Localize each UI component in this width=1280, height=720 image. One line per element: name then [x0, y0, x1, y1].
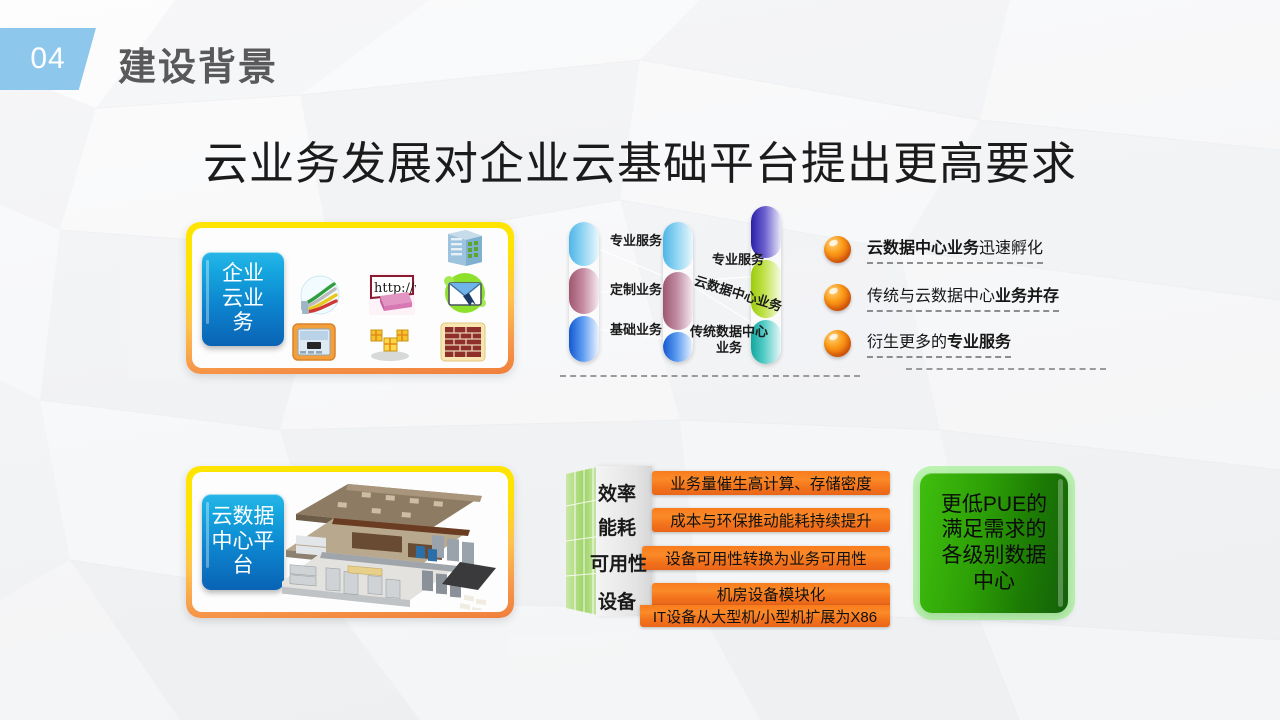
capsule-label-left-1: 定制业务: [601, 282, 671, 298]
orange-bar-2: 设备可用性转换为业务可用性: [642, 546, 890, 570]
bullet-text-1: 传统与云数据中心业务并存: [867, 282, 1059, 312]
capsule-label-right-0: 专业服务: [695, 252, 781, 268]
orange-bar-4: IT设备从大型机/小型机扩展为X86: [640, 605, 890, 627]
panel-enterprise-cloud-business: 企业 云业 务 http://w: [186, 222, 514, 374]
orange-bar-1: 成本与环保推动能耗持续提升: [652, 508, 890, 532]
page-title: 云业务发展对企业云基础平台提出更高要求: [0, 127, 1280, 192]
bullet-text-2: 衍生更多的专业服务: [867, 328, 1011, 358]
orange-bar-0: 业务量催生高计算、存储密度: [652, 471, 890, 495]
tablet-device-icon: [291, 322, 337, 362]
package-boxes-icon: [366, 324, 414, 362]
panel-cloud-datacenter-platform: 云数据 中心平 台: [186, 466, 514, 618]
capsule-1-seg-top: [569, 222, 599, 266]
key-label-0: 效率: [598, 479, 636, 506]
chip-label: 云数据 中心平 台: [212, 505, 275, 579]
capsule-label-left-2: 基础业务: [601, 322, 671, 338]
dashed-separator-left: [560, 375, 860, 377]
bullet-item-0: 云数据中心业务迅速孵化: [824, 234, 1043, 264]
svg-text:http://w: http://w: [374, 281, 416, 296]
capsule-1-seg-mid: [569, 268, 599, 314]
chip-cloud-datacenter-platform: 云数据 中心平 台: [202, 494, 284, 590]
key-label-1: 能耗: [598, 513, 636, 540]
bullet-dot-icon: [824, 330, 851, 357]
bullet-dot-icon: [824, 284, 851, 311]
key-label-2: 可用性: [590, 549, 647, 576]
datacenter-3d-cutaway: [282, 478, 502, 610]
key-label-3: 设备: [598, 587, 636, 614]
result-box-text: 更低PUE的 满足需求的 各级别数据 中心: [941, 492, 1047, 594]
server-rack-icon: [444, 228, 486, 268]
chromosome-diagram: 专业服务 定制业务 基础业务 专业服务 云数据中心业务 传统数据中心 业务: [555, 210, 825, 375]
bullet-text-0: 云数据中心业务迅速孵化: [867, 234, 1043, 264]
section-title: 建设背景: [118, 36, 278, 91]
slide-header: 04 建设背景: [0, 0, 1280, 112]
capsule-label-right-2: 传统数据中心 业务: [683, 324, 775, 357]
orange-bar-3: 机房设备模块化: [652, 583, 890, 605]
capsule-3-seg-top: [751, 206, 781, 258]
bullet-item-1: 传统与云数据中心业务并存: [824, 282, 1059, 312]
capsule-1-seg-bot: [569, 316, 599, 362]
section-number-badge: 04: [0, 28, 96, 90]
capsule-label-left-0: 专业服务: [601, 233, 671, 249]
network-cables-icon: [296, 274, 342, 316]
result-box: 更低PUE的 满足需求的 各级别数据 中心: [920, 473, 1068, 613]
bullet-item-2: 衍生更多的专业服务: [824, 328, 1011, 358]
http-web-icon: http://w: [368, 272, 416, 316]
chip-label: 企业 云业 务: [222, 262, 264, 336]
email-envelope-icon: [441, 270, 489, 316]
chip-enterprise-cloud-business: 企业 云业 务: [202, 252, 284, 346]
firewall-brick-icon: [440, 322, 486, 362]
bullet-dot-icon: [824, 236, 851, 263]
dashed-separator-right: [906, 368, 1106, 370]
capsule-1: [569, 222, 599, 362]
